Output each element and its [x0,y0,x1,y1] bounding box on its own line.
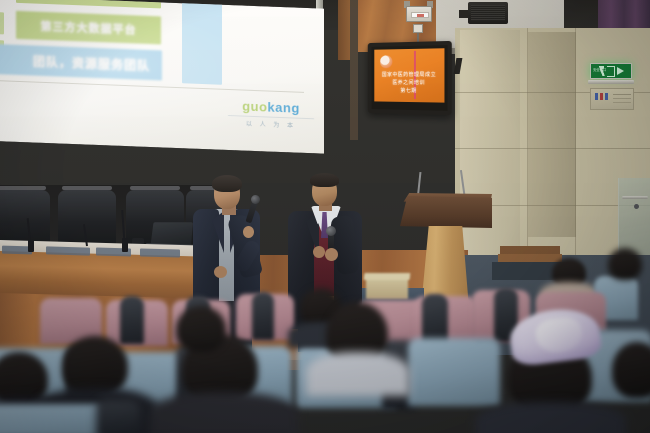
microphone-base [122,238,128,252]
tv-text-line-3: 第七期 [378,87,440,96]
microphone-head-icon [251,195,260,204]
control-box-indicator [417,14,424,17]
microphone-head-icon [326,226,336,236]
speaker-right-hand [325,248,338,261]
audience-seat-front [408,338,500,406]
tv-text-line-1: 国家中医药管理局成立 [378,71,440,79]
door-lock-icon [634,204,639,209]
stone-wall-recess [528,32,576,237]
door-icon [607,66,615,77]
door-handle[interactable] [622,196,648,199]
audience-head [608,248,642,280]
audience-shoulders [306,352,410,396]
slide-logo: guokang 以 人 为 本 [228,99,314,130]
wood-column-dark [350,0,358,140]
exit-sign-label: 安全出口 [593,68,606,72]
speaker-grill [471,5,505,21]
audience-seat-front [0,404,104,433]
wall-switch-2[interactable] [600,93,603,100]
arrow-right-icon [617,67,624,75]
tv-text-block: 国家中医药管理局成立 医养之间培训 第七期 [378,71,440,96]
slide-logo-subtext: 以 人 为 本 [228,115,314,130]
chair-headrest [62,186,112,190]
slide-green-chip-1 [0,12,4,35]
audience-seat-divider [120,296,144,344]
tile-seam-vertical [575,28,576,263]
audience-head [176,306,226,352]
switch-plate-text [613,94,631,95]
slide-logo-left: guo [242,99,267,115]
tv-monitor: 国家中医药管理局成立 医养之间培训 第七期 [368,41,452,115]
dais-table-front [0,251,225,300]
slide-blue-bar-label: 团队，资源服务团队 [0,43,162,80]
exit-sign: 安全出口 [590,63,632,79]
slide-green-bar-label: 第三方大数据平台 [16,11,161,45]
wall-control-box[interactable] [406,6,432,22]
speaker-left-hair [212,175,242,192]
desk-placemat [46,246,90,255]
tv-screen: 国家中医药管理局成立 医养之间培训 第七期 [374,48,444,102]
tv-stand [398,110,420,116]
projection-screen: 第三方大数据平台 团队，资源服务团队 guokang 以 人 为 本 [0,0,324,154]
wall-switch-3[interactable] [605,93,608,100]
projection-screen-surface: 第三方大数据平台 团队，资源服务团队 guokang 以 人 为 本 [0,0,324,154]
microphone-base [28,240,34,252]
audience-seat-divider [252,292,274,340]
slide-green-bar-top [16,0,161,8]
stair-step-1 [500,246,560,254]
wall-speaker [468,2,508,24]
audience-head [62,336,128,396]
exit-sign-mount [588,80,634,84]
audience-seat-divider [96,400,140,433]
chair-headrest [0,186,46,190]
speaker-right-hair [310,173,339,187]
lectern-top [400,196,492,228]
audience-head [612,342,650,398]
tv-logo-icon [380,55,392,68]
auditorium-photo: 第三方大数据平台 团队，资源服务团队 guokang 以 人 为 本 [0,0,650,433]
audience-shoulders [150,392,298,433]
desk-placemat [140,248,180,257]
slide-blue-column [182,0,222,85]
cardboard-box-lid [364,273,411,280]
slide-divider [0,79,304,93]
wood-column-left [338,0,350,60]
audience-shoulders [476,402,626,433]
tile-seam [455,148,650,149]
speaker-left-hand-lower [214,266,227,278]
cardboard-box [366,277,408,299]
wall-switch-plate[interactable] [590,88,634,110]
chair-headrest [130,186,180,190]
slide-logo-right: kang [267,100,299,116]
speaker-left-hand [243,226,254,238]
speaker-right-hand-left [313,246,325,258]
stair-step-2 [498,254,562,262]
wall-switch-1[interactable] [595,93,598,100]
control-box-secondary[interactable] [413,24,423,33]
tile-seam-vertical [527,28,528,263]
slide-logo-text: guokang [228,99,314,115]
